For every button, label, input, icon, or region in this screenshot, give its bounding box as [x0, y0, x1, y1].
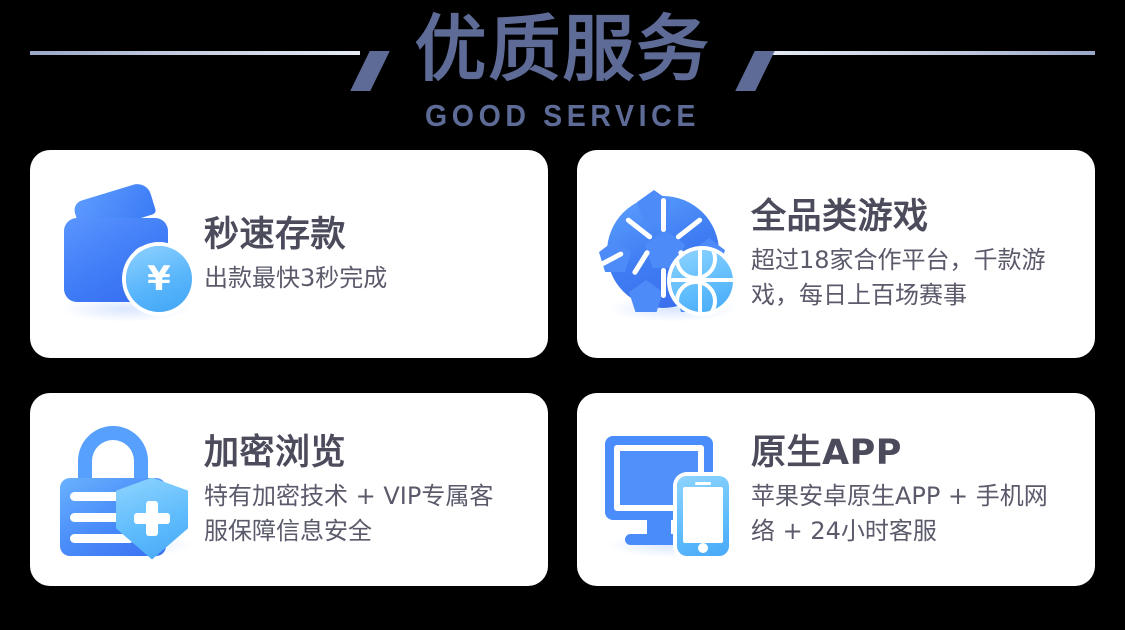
phone-shape — [677, 476, 729, 556]
phone-home-button — [698, 543, 708, 553]
lock-shield-icon — [52, 420, 204, 560]
card-text-block: 全品类游戏 超过18家合作平台，千款游戏，每日上百场赛事 — [751, 195, 1095, 313]
feature-card-grid: ¥ 秒速存款 出款最快3秒完成 — [30, 150, 1095, 586]
card-description: 超过18家合作平台，千款游戏，每日上百场赛事 — [751, 243, 1081, 313]
card-title: 加密浏览 — [204, 431, 536, 475]
phone-speaker — [695, 482, 711, 485]
feature-card-games[interactable]: 全品类游戏 超过18家合作平台，千款游戏，每日上百场赛事 — [577, 150, 1095, 358]
page-title: 优质服务 — [0, 6, 1125, 92]
card-text-block: 秒速存款 出款最快3秒完成 — [204, 213, 548, 296]
feature-card-native-app[interactable]: 原生APP 苹果安卓原生APP + 手机网络 + 24小时客服 — [577, 393, 1095, 586]
card-text-block: 原生APP 苹果安卓原生APP + 手机网络 + 24小时客服 — [751, 431, 1095, 549]
feature-card-deposit[interactable]: ¥ 秒速存款 出款最快3秒完成 — [30, 150, 548, 358]
card-description: 特有加密技术 + VIP专属客服保障信息安全 — [204, 479, 514, 549]
feature-card-encryption[interactable]: 加密浏览 特有加密技术 + VIP专属客服保障信息安全 — [30, 393, 548, 586]
page-subtitle: GOOD SERVICE — [45, 99, 1080, 133]
card-title: 秒速存款 — [204, 213, 536, 257]
card-title: 原生APP — [751, 431, 1083, 475]
card-description: 出款最快3秒完成 — [204, 261, 534, 296]
cross-vertical — [146, 501, 158, 536]
soccer-basketball-icon — [599, 184, 751, 324]
phone-screen — [683, 487, 723, 543]
wallet-yen-icon: ¥ — [52, 184, 204, 324]
card-description: 苹果安卓原生APP + 手机网络 + 24小时客服 — [751, 479, 1061, 549]
card-title: 全品类游戏 — [751, 195, 1083, 239]
monitor-phone-icon — [599, 420, 751, 560]
yen-coin-icon: ¥ — [126, 246, 192, 312]
banner-header: 优质服务 GOOD SERVICE — [0, 0, 1125, 148]
basketball-shape — [671, 250, 733, 312]
promo-banner: 优质服务 GOOD SERVICE ¥ 秒速存款 出款最快3秒完成 — [0, 0, 1125, 630]
card-text-block: 加密浏览 特有加密技术 + VIP专属客服保障信息安全 — [204, 431, 548, 549]
